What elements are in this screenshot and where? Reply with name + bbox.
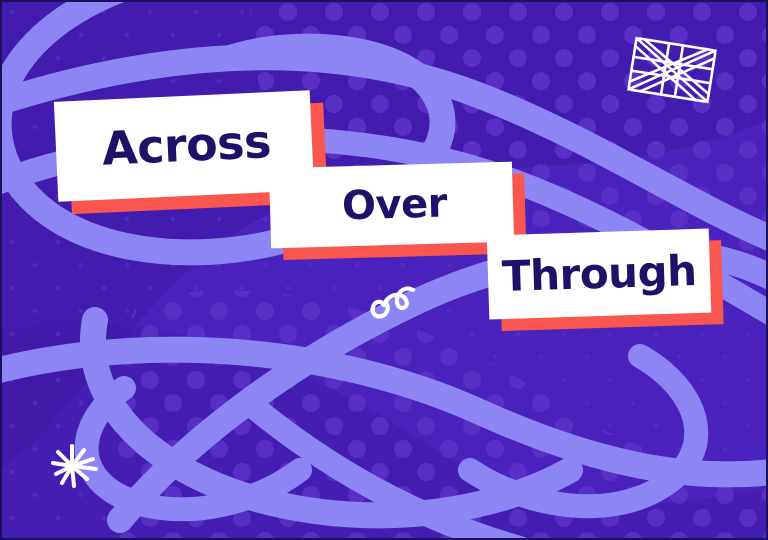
word-card-through[interactable]: Through — [487, 229, 712, 320]
card-face: Over — [269, 162, 514, 249]
card-face: Through — [487, 229, 712, 320]
card-label-across: Across — [101, 114, 272, 176]
poster-canvas: Across Over Through — [0, 0, 768, 540]
card-label-through: Through — [501, 246, 697, 301]
card-label-over: Over — [341, 180, 447, 229]
word-card-over[interactable]: Over — [269, 162, 514, 249]
